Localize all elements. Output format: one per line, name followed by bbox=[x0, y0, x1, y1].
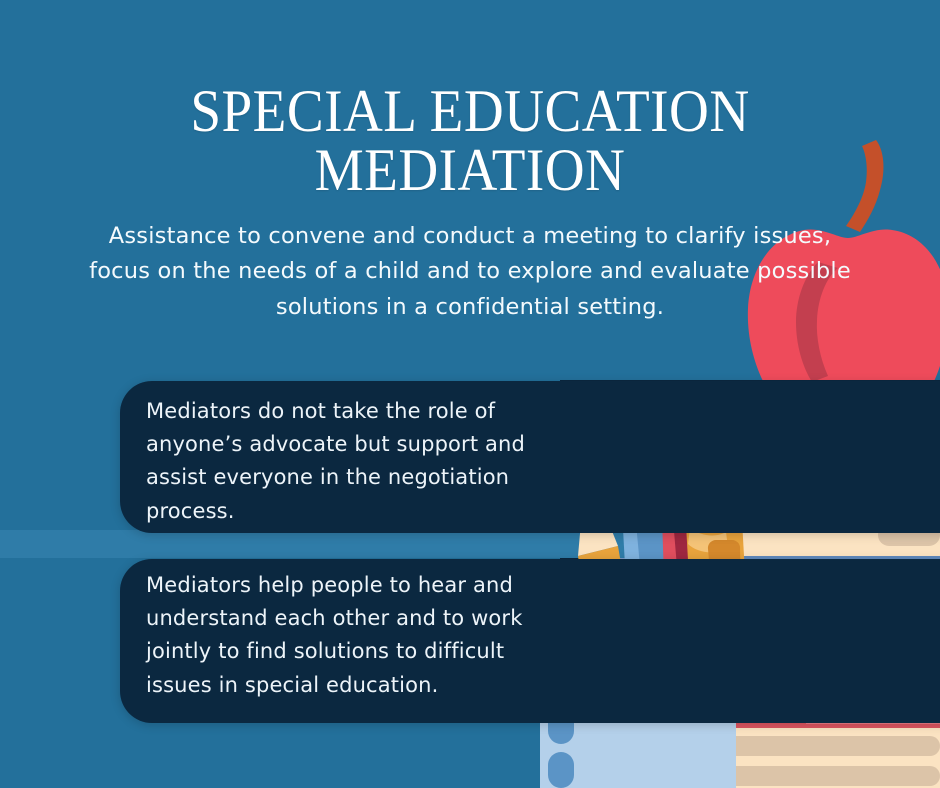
callout-card-2: Mediators help people to hear and unders… bbox=[120, 559, 940, 723]
intro-paragraph: Assistance to convene and conduct a meet… bbox=[78, 219, 862, 326]
poster-canvas: SPECIAL EDUCATION MEDIATION Assistance t… bbox=[0, 0, 940, 788]
callout-card-1-text: Mediators do not take the role of anyone… bbox=[146, 395, 546, 528]
callout-card-2-text: Mediators help people to hear and unders… bbox=[146, 569, 566, 702]
callout-card-1: Mediators do not take the role of anyone… bbox=[120, 381, 940, 533]
page-title-line-2: MEDIATION bbox=[38, 141, 903, 200]
page-title: SPECIAL EDUCATION MEDIATION bbox=[38, 82, 903, 200]
poster-content: SPECIAL EDUCATION MEDIATION Assistance t… bbox=[0, 0, 940, 788]
page-title-line-1: SPECIAL EDUCATION bbox=[38, 82, 903, 141]
